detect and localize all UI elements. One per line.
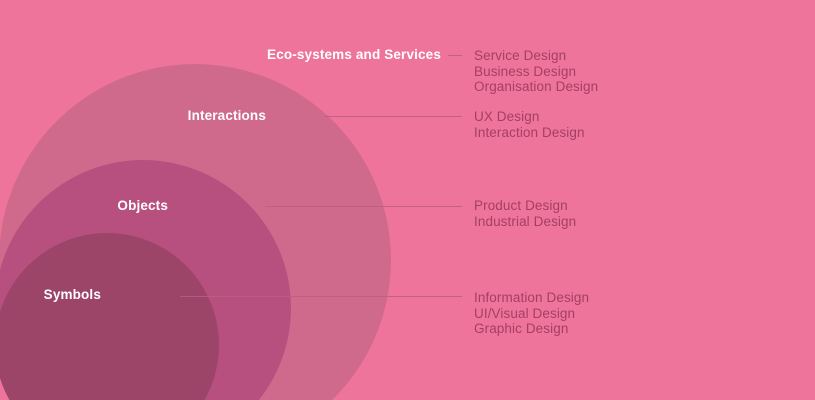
discipline-group-eco-systems: Service Design Business Design Organisat… [474,48,598,95]
discipline-item: Interaction Design [474,125,585,141]
discipline-item: Graphic Design [474,321,589,337]
discipline-item: UX Design [474,109,585,125]
tier-label-symbols: Symbols [44,287,101,302]
disciplines-column: Service Design Business Design Organisat… [474,0,804,400]
discipline-item: Information Design [474,290,589,306]
discipline-item: Business Design [474,64,598,80]
diagram-canvas: Eco-systems and Services Interactions Ob… [0,0,815,400]
connector-line-eco [448,55,462,56]
discipline-group-objects: Product Design Industrial Design [474,198,576,229]
discipline-group-symbols: Information Design UI/Visual Design Grap… [474,290,589,337]
tier-label-interactions: Interactions [188,108,266,123]
discipline-item: Industrial Design [474,214,576,230]
discipline-item: Organisation Design [474,79,598,95]
discipline-item: UI/Visual Design [474,306,589,322]
connector-line-objects [265,206,462,207]
discipline-item: Service Design [474,48,598,64]
discipline-group-interactions: UX Design Interaction Design [474,109,585,140]
connector-line-symbols [180,296,462,297]
tier-label-objects: Objects [117,198,168,213]
tier-label-eco-systems: Eco-systems and Services [267,47,441,62]
discipline-item: Product Design [474,198,576,214]
connector-line-interactions [325,116,462,117]
